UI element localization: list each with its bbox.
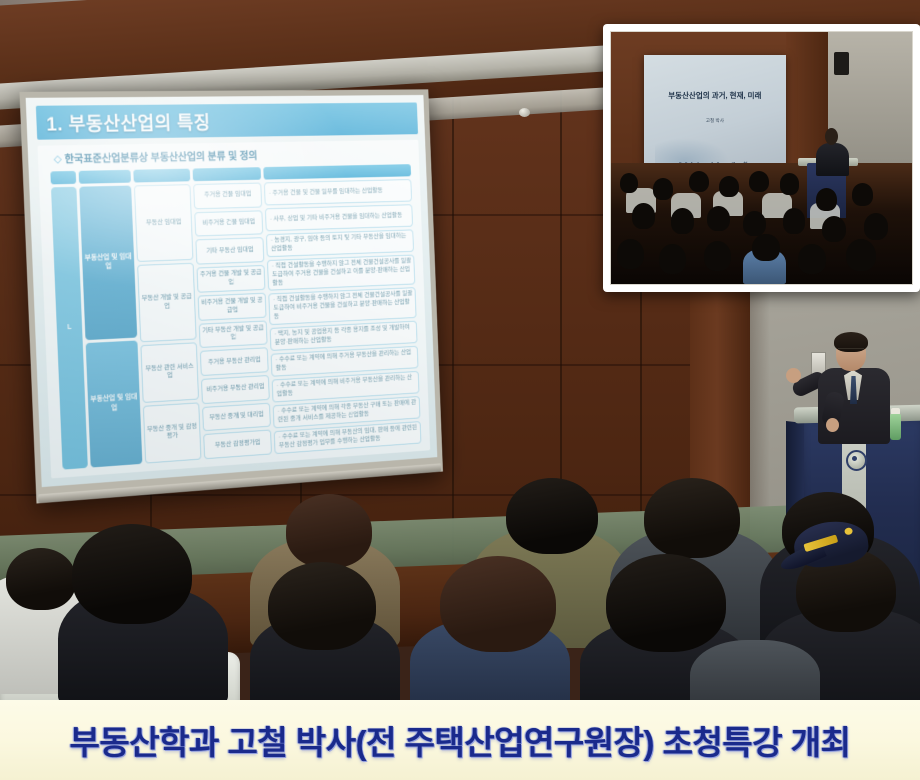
wall-sensor-icon [519,108,530,117]
table-cell: 부동산 중개 및 대리업 [202,402,271,431]
table-cell: · 주거용 건물 및 건물 일부를 임대하는 산업활동 [264,179,412,205]
table-cell: 부동산 개발 및 공급업 [137,263,196,342]
table-cell: 부동산 관련 서비스업 [140,342,199,403]
inset-audience-head [707,206,730,231]
inset-audience-head [780,173,800,194]
glasses-icon [838,348,864,354]
table-cell: 주거용 건물 임대업 [193,183,262,210]
lecturer-right-hand [826,418,839,432]
inset-audience-head [743,211,766,236]
inset-projection-screen: 부동산산업의 과거, 현재, 미래 고철 박사 2014. 10. 고 철 [644,55,785,181]
photo-card: 1. 부동산산업의 특징 ◇한국표준산업분류상 부동산산업의 분류 및 정의 L… [0,0,920,780]
table-cell: 부동산 감정평가업 [203,430,272,460]
table-cell: · 직접 건설활동을 수행하지 않고 전체 건물건설공사를 일괄 도급하여 비주… [268,288,416,325]
table-cell: 주거용 건물 개발 및 공급업 [197,265,266,293]
inset-audience-head [752,234,779,262]
table-cell: 부동산 임대업 [134,184,194,262]
table-header-cell [193,167,262,181]
caption-bar: 부동산학과 고철 박사(전 주택산업연구원장) 초청특강 개최 [0,700,920,780]
audience-head [440,556,556,652]
inset-wall-speaker [834,52,849,75]
inset-audience-head [659,244,686,274]
table-header-cell [50,171,76,184]
audience-head [644,478,740,558]
slide-body: ◇한국표준산업분류상 부동산산업의 분류 및 정의 L 부동산업 및 임대업 부… [37,140,430,479]
table-cell: 기타 부동산 개발 및 공급업 [199,320,268,348]
table-cell: 부동산업 및 임대업 [79,186,137,340]
inset-audience-head [798,244,827,274]
inset-audience-head [632,203,655,228]
table-cell: 비주거용 건물 개발 및 공급업 [198,293,267,321]
inset-audience-head [719,176,739,197]
caption-title: 부동산학과 고철 박사(전 주택산업연구원장) 초청특강 개최 [70,716,851,764]
inset-audience-head [617,239,644,269]
slide-subtitle-text: 한국표준산업분류상 부동산산업의 분류 및 정의 [64,150,257,165]
inset-audience-head [704,241,731,271]
audience-head [286,494,372,568]
inset-photo: 부동산산업의 과거, 현재, 미래 고철 박사 2014. 10. 고 철 [603,24,920,292]
inset-audience-head [749,171,769,192]
table-col-definition: · 주거용 건물 및 건물 일부를 임대하는 산업활동 · 사무, 상업 및 기… [263,164,421,454]
table-cell: 비주거용 부동산 관리업 [201,375,270,404]
lecturer [790,330,920,440]
inset-audience-head [653,178,673,199]
inset-audience-head [864,213,888,239]
audience-group [0,470,920,700]
inset-audience-head [689,171,709,192]
lecturer-left-hand [786,368,801,383]
inset-slide-subtitle: 고철 박사 [644,118,785,124]
table-header-cell [79,170,131,184]
table-cell: 부동산 중개 및 감정평가 [143,402,202,463]
inset-audience-head [816,188,837,211]
slide-title: 1. 부동산산업의 특징 [46,108,211,136]
table-col-sub: 주거용 건물 임대업 비주거용 건물 임대업 기타 부동산 임대업 주거용 건물… [193,167,272,459]
inset-audience-head [783,208,806,233]
slide-subtitle: ◇한국표준산업분류상 부동산산업의 분류 및 정의 [53,148,257,166]
inset-audience-head [671,208,694,233]
audience-head [506,478,598,554]
table-cell: · 직접 건설활동을 수행하지 않고 전체 건물건설공사를 일괄 도급하여 주거… [267,255,415,291]
projection-screen: 1. 부동산산업의 특징 ◇한국표준산업분류상 부동산산업의 분류 및 정의 L… [19,89,442,503]
table-cell: 기타 부동산 임대업 [195,238,264,265]
table-cell: 부동산업 및 임대업 [86,340,143,467]
table-cell: 주거용 부동산 관리업 [200,347,269,376]
table-cell: 비주거용 건물 임대업 [194,210,263,237]
cap-side-emblem-icon [844,527,853,535]
audience-head [268,562,376,650]
screen-surface: 1. 부동산산업의 특징 ◇한국표준산업분류상 부동산산업의 분류 및 정의 L… [26,95,438,487]
inset-photo-image: 부동산산업의 과거, 현재, 미래 고철 박사 2014. 10. 고 철 [610,31,913,285]
audience-head [606,554,726,652]
inset-audience-head [846,239,876,272]
audience-body [690,640,820,700]
table-col-major: 부동산업 및 임대업 부동산업 및 임대업 [79,170,143,468]
inset-audience-head [852,183,873,206]
diamond-bullet-icon: ◇ [54,153,62,165]
audience-head [72,524,192,624]
audience-head [6,548,76,610]
university-emblem-icon [846,450,867,471]
table-col-mid: 부동산 임대업 부동산 개발 및 공급업 부동산 관련 서비스업 부동산 중개 … [133,169,201,464]
table-cell: · 사무, 상업 및 기타 비주거용 건물을 임대하는 산업활동 [265,204,413,231]
slide-table: L 부동산업 및 임대업 부동산업 및 임대업 부동산 임대업 부동산 개발 및… [50,164,421,469]
table-cell: · 농경지, 광구, 임야 등의 토지 및 기타 부동산을 임대하는 산업활동 [266,229,414,257]
table-header-cell [263,164,411,179]
inset-audience-head [620,173,638,193]
table-header-cell [133,169,190,183]
inset-audience-head [822,216,846,242]
inset-slide-title: 부동산산업의 과거, 현재, 미래 [644,90,785,101]
inset-lecturer-body [816,143,849,176]
